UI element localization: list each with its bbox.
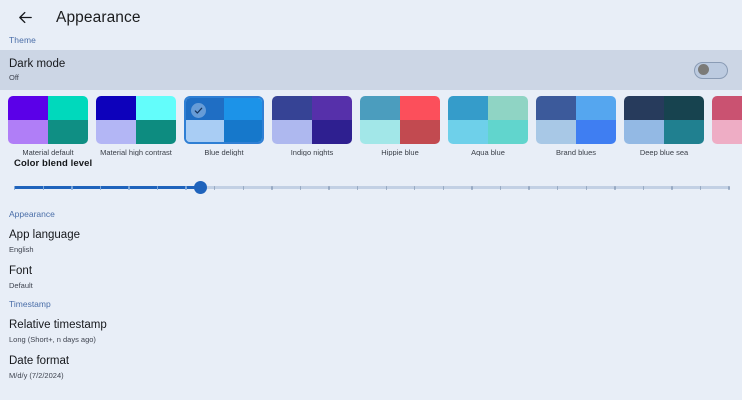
slider-tick <box>271 186 272 190</box>
swatch-quadrant <box>272 120 312 144</box>
slider-tick <box>528 186 529 190</box>
setting-value: Default <box>9 280 733 291</box>
swatch-quadrant <box>488 120 528 144</box>
slider-tick <box>128 186 129 190</box>
swatch-quadrant <box>624 120 664 144</box>
swatch-quadrant <box>136 120 176 144</box>
theme-swatch-item[interactable]: Blue delight <box>184 96 264 156</box>
swatch-quadrant <box>360 96 400 120</box>
theme-swatch-item[interactable] <box>712 96 742 148</box>
theme-swatch-label: Aqua blue <box>448 148 528 156</box>
swatch-quadrant <box>312 96 352 120</box>
slider-tick <box>643 186 644 190</box>
slider-tick <box>386 186 387 190</box>
slider-tick <box>700 186 701 190</box>
swatch-quadrant <box>488 96 528 120</box>
check-icon <box>191 103 206 118</box>
swatch-quadrant <box>712 120 742 144</box>
swatch-quadrant <box>400 120 440 144</box>
setting-title: App language <box>9 228 733 242</box>
slider-tick <box>500 186 501 190</box>
slider-tick <box>671 186 672 190</box>
swatch-quadrant <box>536 120 576 144</box>
slider-tick <box>71 186 72 190</box>
slider-tick <box>185 186 186 190</box>
swatch-quadrant <box>48 96 88 120</box>
slider-tick <box>557 186 558 190</box>
slider-tick <box>728 186 729 190</box>
dark-mode-texts: Dark mode Off <box>9 57 694 83</box>
swatch-quadrant <box>96 96 136 120</box>
toggle-knob <box>698 64 709 75</box>
slider-tick <box>471 186 472 190</box>
swatch-quadrant <box>48 120 88 144</box>
theme-swatch-label: Deep blue sea <box>624 148 704 156</box>
theme-swatch[interactable] <box>184 96 264 144</box>
swatch-quadrant <box>186 120 224 142</box>
slider-tick <box>414 186 415 190</box>
swatch-quadrant <box>96 120 136 144</box>
swatch-quadrant <box>136 96 176 120</box>
theme-swatch-item[interactable]: Deep blue sea <box>624 96 704 156</box>
setting-title: Date format <box>9 354 733 368</box>
slider-tick <box>14 186 15 190</box>
swatch-quadrant <box>360 120 400 144</box>
setting-row-relative-timestamp[interactable]: Relative timestamp Long (Short+, n days … <box>0 309 742 345</box>
slider-tick <box>614 186 615 190</box>
theme-swatch-label: Indigo nights <box>272 148 352 156</box>
slider-ticks <box>14 186 730 190</box>
swatch-quadrant <box>536 96 576 120</box>
appearance-settings-screen: Appearance Theme Dark mode Off Material … <box>0 0 742 400</box>
slider-tick <box>214 186 215 190</box>
theme-swatch-item[interactable]: Aqua blue <box>448 96 528 156</box>
setting-value: English <box>9 244 733 255</box>
swatch-quadrant <box>624 96 664 120</box>
swatch-quadrant <box>400 96 440 120</box>
slider-tick <box>43 186 44 190</box>
theme-swatch[interactable] <box>712 96 742 144</box>
setting-row-date-format[interactable]: Date format M/d/y (7/2/2024) <box>0 345 742 381</box>
theme-swatch-label: Blue delight <box>184 148 264 156</box>
swatch-quadrant <box>224 120 262 142</box>
swatch-quadrant <box>576 120 616 144</box>
setting-title: Font <box>9 264 733 278</box>
slider-thumb[interactable] <box>194 181 207 194</box>
theme-swatch[interactable] <box>536 96 616 144</box>
swatch-quadrant <box>224 98 262 120</box>
theme-swatch-label: Material default <box>8 148 88 156</box>
slider-tick <box>300 186 301 190</box>
setting-title: Relative timestamp <box>9 318 733 332</box>
section-label-appearance: Appearance <box>0 209 742 219</box>
slider-tick <box>100 186 101 190</box>
page-header: Appearance <box>0 0 742 35</box>
theme-swatch[interactable] <box>360 96 440 144</box>
theme-swatch[interactable] <box>448 96 528 144</box>
section-label-theme: Theme <box>0 35 742 45</box>
dark-mode-value: Off <box>9 72 694 83</box>
back-arrow-icon[interactable] <box>12 5 38 31</box>
swatch-quadrant <box>664 96 704 120</box>
theme-swatch[interactable] <box>272 96 352 144</box>
theme-swatch-item[interactable]: Brand blues <box>536 96 616 156</box>
swatch-quadrant <box>576 96 616 120</box>
swatch-quadrant <box>8 120 48 144</box>
theme-swatch-item[interactable]: Indigo nights <box>272 96 352 156</box>
slider-tick <box>443 186 444 190</box>
theme-swatch-item[interactable]: Material high contrast <box>96 96 176 156</box>
swatch-quadrant <box>312 120 352 144</box>
setting-row-font[interactable]: Font Default <box>0 255 742 291</box>
setting-value: Long (Short+, n days ago) <box>9 334 733 345</box>
swatch-quadrant <box>448 96 488 120</box>
theme-swatch[interactable] <box>8 96 88 144</box>
section-label-timestamp: Timestamp <box>0 299 742 309</box>
slider-tick <box>243 186 244 190</box>
swatch-quadrant <box>272 96 312 120</box>
theme-swatch[interactable] <box>624 96 704 144</box>
theme-swatch-item[interactable]: Hippie blue <box>360 96 440 156</box>
theme-swatch-label: Hippie blue <box>360 148 440 156</box>
slider-tick <box>586 186 587 190</box>
dark-mode-row[interactable]: Dark mode Off <box>0 50 742 90</box>
swatch-quadrant <box>8 96 48 120</box>
page-title: Appearance <box>56 9 141 27</box>
theme-swatch-item[interactable]: Material default <box>8 96 88 156</box>
theme-swatch[interactable] <box>96 96 176 144</box>
swatch-quadrant <box>664 120 704 144</box>
slider-tick <box>157 186 158 190</box>
setting-row-app-language[interactable]: App language English <box>0 219 742 255</box>
theme-swatch-label: Brand blues <box>536 148 616 156</box>
dark-mode-toggle[interactable] <box>694 62 728 79</box>
color-blend-block: Color blend level <box>0 156 742 201</box>
slider-tick <box>328 186 329 190</box>
appearance-section: Appearance App language English Font Def… <box>0 201 742 291</box>
theme-swatch-label: Material high contrast <box>96 148 176 156</box>
slider-tick <box>357 186 358 190</box>
swatch-quadrant <box>712 96 742 120</box>
swatch-quadrant <box>448 120 488 144</box>
dark-mode-title: Dark mode <box>9 57 694 71</box>
theme-swatch-list[interactable]: Material defaultMaterial high contrastBl… <box>0 90 742 156</box>
setting-value: M/d/y (7/2/2024) <box>9 370 733 381</box>
timestamp-section: Timestamp Relative timestamp Long (Short… <box>0 291 742 381</box>
color-blend-slider[interactable] <box>14 175 730 201</box>
color-blend-title: Color blend level <box>0 158 742 169</box>
